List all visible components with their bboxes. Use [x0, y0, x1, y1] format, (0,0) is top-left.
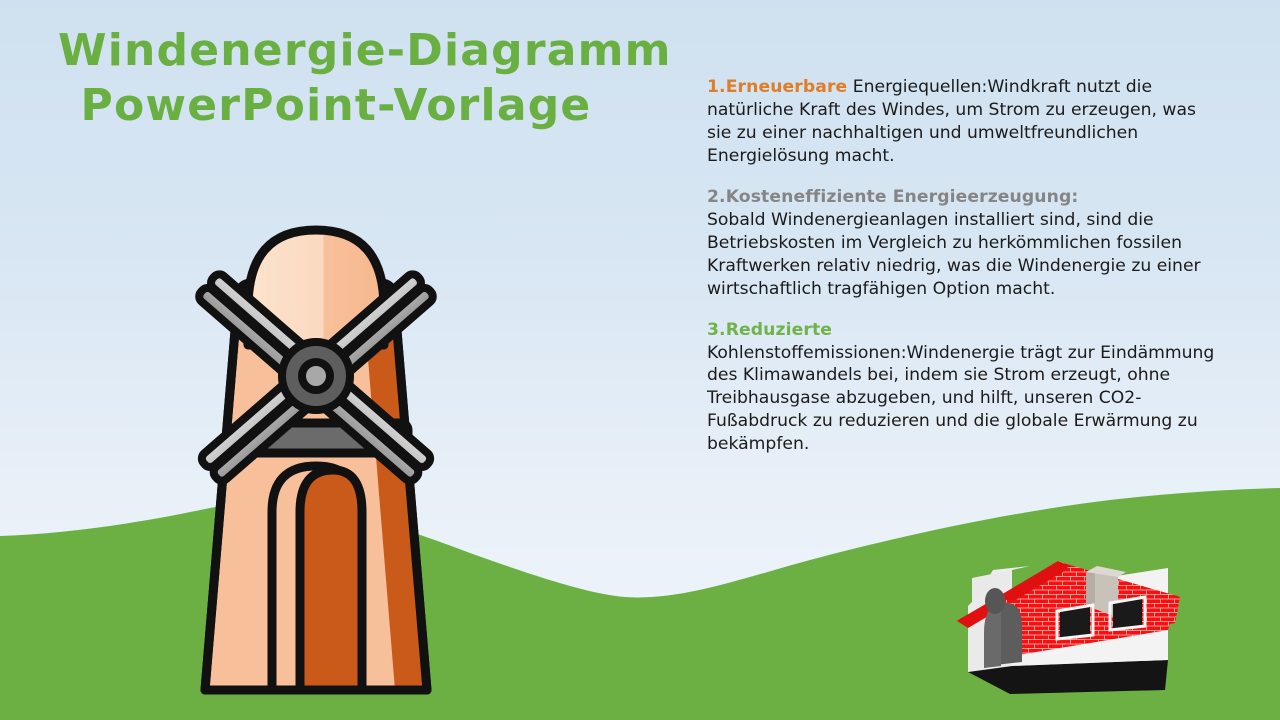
paragraph-1: 1.Erneuerbare Energiequellen:Windkraft n…: [707, 76, 1219, 168]
house-window-2: [1113, 599, 1142, 629]
title-line-2: PowerPoint-Vorlage: [58, 79, 658, 134]
paragraph-1-heading: 1.Erneuerbare: [707, 77, 847, 97]
paragraph-2-heading: 2.Kosteneffiziente Energieerzeugung:: [707, 186, 1219, 209]
windmill-hub-inner: [302, 362, 330, 390]
slide-canvas: Windenergie-Diagramm PowerPoint-Vorlage …: [0, 0, 1280, 720]
house-illustration: [957, 561, 1180, 694]
windmill-illustration: [196, 230, 435, 690]
house-window-1: [1060, 607, 1090, 638]
house-chimney-left: [1086, 568, 1095, 609]
paragraph-3: 3.Reduzierte Kohlenstoffemissionen:Winde…: [707, 319, 1219, 457]
paragraph-2-body: Sobald Windenergieanlagen installiert si…: [707, 210, 1201, 299]
paragraph-2: 2.Kosteneffiziente Energieerzeugung: Sob…: [707, 186, 1219, 301]
paragraph-3-body: Kohlenstoffemissionen:Windenergie trägt …: [707, 343, 1214, 455]
house-gable-window: [985, 588, 1005, 614]
paragraph-3-heading: 3.Reduzierte: [707, 319, 1219, 342]
windmill-door-inner: [300, 470, 362, 690]
content-text-column: 1.Erneuerbare Energiequellen:Windkraft n…: [707, 76, 1219, 456]
page-title: Windenergie-Diagramm PowerPoint-Vorlage: [58, 24, 658, 133]
title-line-1: Windenergie-Diagramm: [58, 24, 658, 79]
